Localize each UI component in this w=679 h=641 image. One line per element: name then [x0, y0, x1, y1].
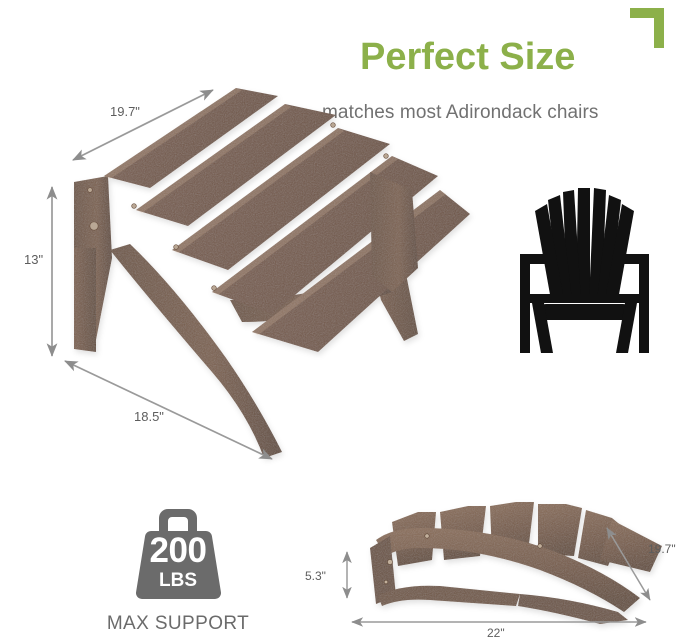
weight-icon-wrap: 200 LBS — [124, 505, 232, 603]
dimension-label-depth: 19.7" — [110, 104, 140, 119]
dimension-label-folded-width: 22" — [487, 626, 505, 640]
weight-value: 200 — [124, 533, 232, 568]
dimension-label-height: 13" — [24, 252, 43, 267]
page-title: Perfect Size — [360, 38, 670, 78]
infographic-page: Perfect Size matches most Adirondack cha… — [0, 0, 679, 641]
dimension-arrow-depth — [73, 90, 213, 160]
max-support-block: 200 LBS MAX SUPPORT — [78, 505, 278, 635]
ottoman-folded-illustration — [370, 502, 662, 624]
dimension-label-folded-height: 5.3" — [305, 569, 326, 583]
dimension-label-folded-depth: 19.7" — [648, 542, 676, 556]
page-subtitle: matches most Adirondack chairs — [322, 102, 670, 124]
weight-unit: LBS — [124, 571, 232, 590]
max-support-caption: MAX SUPPORT — [78, 613, 278, 635]
dimension-arrow-width — [65, 361, 272, 459]
dimension-label-width: 18.5" — [134, 409, 164, 424]
ottoman-main-illustration — [74, 88, 470, 458]
dimension-arrow-folded-depth — [607, 528, 650, 600]
adirondack-chair-silhouette — [520, 188, 649, 353]
